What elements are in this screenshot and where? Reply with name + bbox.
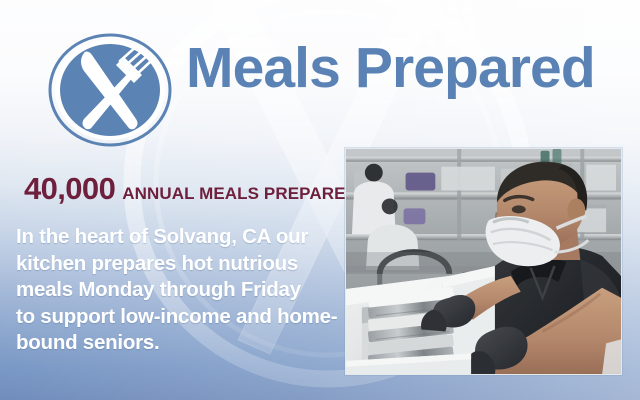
kitchen-worker-photo bbox=[345, 148, 622, 375]
header: Meals Prepared bbox=[0, 0, 640, 148]
page-title: Meals Prepared bbox=[186, 40, 595, 97]
kitchen-worker-photo-illustration bbox=[346, 149, 621, 374]
statistic-number: 40,000 bbox=[24, 171, 115, 206]
body-paragraph: In the heart of Solvang, CA our kitchen … bbox=[16, 224, 334, 357]
statistic-line: 40,000ANNUAL MEALS PREPARED bbox=[24, 171, 358, 207]
body-line: kitchen prepares hot nutrious bbox=[16, 251, 334, 278]
body-line: In the heart of Solvang, CA our bbox=[16, 224, 334, 251]
infographic-slide: Meals Prepared 40,000ANNUAL MEALS PREPAR… bbox=[0, 0, 640, 400]
knife-and-fork-circle-logo-icon bbox=[46, 31, 174, 149]
body-line: bound seniors. bbox=[16, 330, 334, 357]
body-line: to support low-income and home- bbox=[16, 304, 334, 331]
body-line: meals Monday through Friday bbox=[16, 277, 334, 304]
statistic-label: ANNUAL MEALS PREPARED bbox=[122, 184, 358, 203]
